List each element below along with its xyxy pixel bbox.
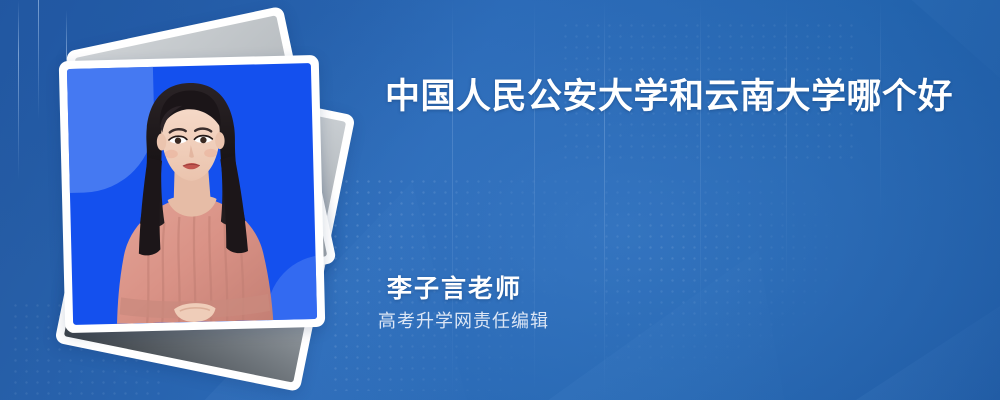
hairline-5 [534,0,535,400]
portrait-photo [67,63,317,325]
photo-frame-front [59,55,326,333]
hairline-8 [786,0,787,300]
page-title: 中国人民公安大学和云南大学哪个好 [385,68,960,125]
hairline-1 [18,0,19,180]
hairline-6 [604,0,605,400]
portrait-figure-illustration [67,63,317,325]
photo-frame-stack [42,26,342,374]
article-cover-banner: 中国人民公安大学和云南大学哪个好 李子言老师 高考升学网责任编辑 [0,0,1000,400]
hairline-4 [452,0,453,400]
author-name: 李子言老师 [377,272,797,306]
author-info: 李子言老师 高考升学网责任编辑 [377,272,797,336]
hairline-2 [38,0,39,120]
author-role: 高考升学网责任编辑 [377,306,797,336]
